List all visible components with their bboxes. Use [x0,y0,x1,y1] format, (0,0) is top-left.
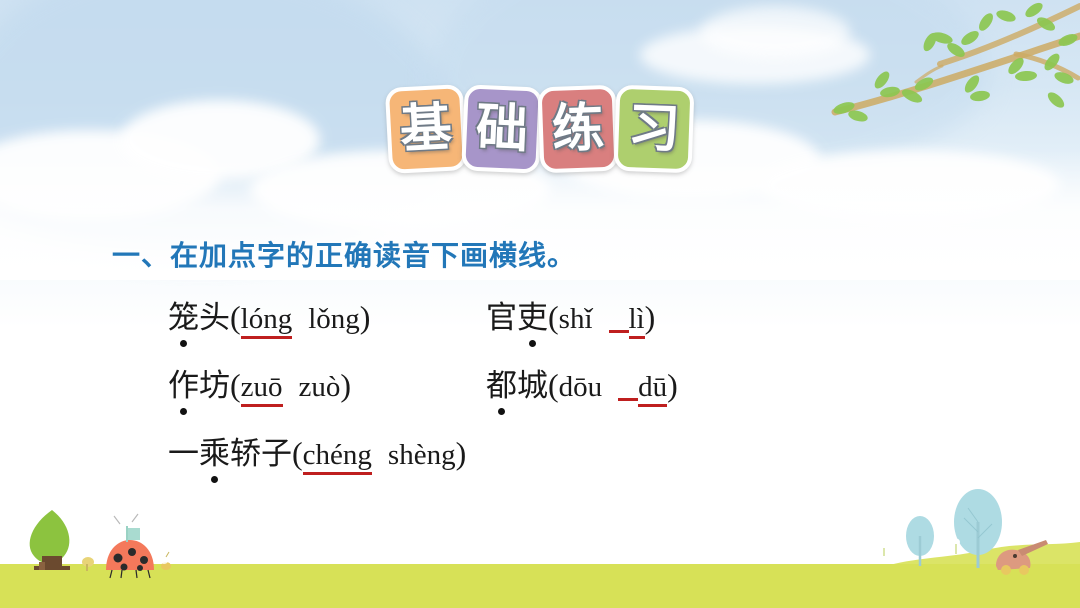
exercise-item-3[interactable]: 作坊(zuōzuò) [168,360,486,405]
green-tree-icon [30,510,70,570]
pinyin-option[interactable]: zuò [299,371,341,403]
word-char: 头 [199,300,230,336]
answer-underline [609,330,629,333]
title-char-2: 础 [475,102,529,156]
word-char: 一 [168,436,199,472]
pinyin-option[interactable]: chéng [303,439,372,475]
paren-open: ( [292,435,303,471]
left-decorations [12,500,202,586]
bee-icon [160,552,171,570]
pinyin-option[interactable]: zuō [241,371,283,407]
title-tile-4: 习 [614,85,695,174]
dotted-char: 吏 [517,292,548,337]
title-tile-1: 基 [385,84,467,174]
title-char-1: 基 [399,102,454,157]
paren-close: ) [340,367,351,403]
exercise-row: 笼头(lónglǒng) 官吏(shǐlì) [168,292,928,360]
paren-close: ) [360,299,371,335]
word-char: 轿子 [230,436,292,472]
blue-tree-small-icon [906,516,934,566]
pinyin-option[interactable]: lóng [241,303,293,339]
exercise-row: 作坊(zuōzuò) 都城(dōudū) [168,360,928,428]
word-char: 官 [486,300,517,336]
exercise-row: 一乘轿子(chéngshèng) [168,428,928,496]
slide-title: 基 础 练 习 [0,86,1080,172]
bird-icon [996,540,1048,575]
blue-tree-large-icon [954,489,1002,568]
ladybug-icon [106,514,154,578]
pinyin-option[interactable]: dōu [559,371,603,403]
paren-open: ( [230,367,241,403]
word-char: 坊 [199,368,230,404]
pinyin-option[interactable]: shǐ [559,303,593,335]
answer-underline [618,398,638,401]
title-tile-2: 础 [461,84,543,173]
paren-open: ( [548,299,559,335]
dotted-char: 笼 [168,292,199,337]
pinyin-option[interactable]: dū [638,371,667,407]
paren-close: ) [667,367,678,403]
sprout-icon [82,557,94,571]
title-char-3: 练 [551,102,605,156]
paren-close: ) [645,299,656,335]
dotted-char: 都 [486,360,517,405]
exercise-list: 笼头(lónglǒng) 官吏(shǐlì) 作坊(zuōzuò) 都城(dōu… [168,292,928,496]
pinyin-option[interactable]: shèng [388,439,456,471]
question-heading: 一、在加点字的正确读音下画横线。 [112,234,576,274]
exercise-item-4[interactable]: 都城(dōudū) [486,360,678,405]
slide-canvas: 基 础 练 习 一、在加点字的正确读音下画横线。 笼头(lónglǒng) 官吏… [0,0,1080,608]
exercise-item-2[interactable]: 官吏(shǐlì) [486,292,655,337]
exercise-item-5[interactable]: 一乘轿子(chéngshèng) [168,428,466,473]
paren-open: ( [548,367,559,403]
title-char-4: 习 [627,102,681,156]
dotted-char: 乘 [199,428,230,473]
paren-close: ) [456,435,467,471]
dotted-char: 作 [168,360,199,405]
exercise-item-1[interactable]: 笼头(lónglǒng) [168,292,486,337]
title-tile-3: 练 [538,85,619,174]
right-decorations [860,474,1070,584]
word-char: 城 [517,368,548,404]
pinyin-option[interactable]: lǒng [308,303,360,335]
pinyin-option[interactable]: lì [629,303,645,339]
paren-open: ( [230,299,241,335]
